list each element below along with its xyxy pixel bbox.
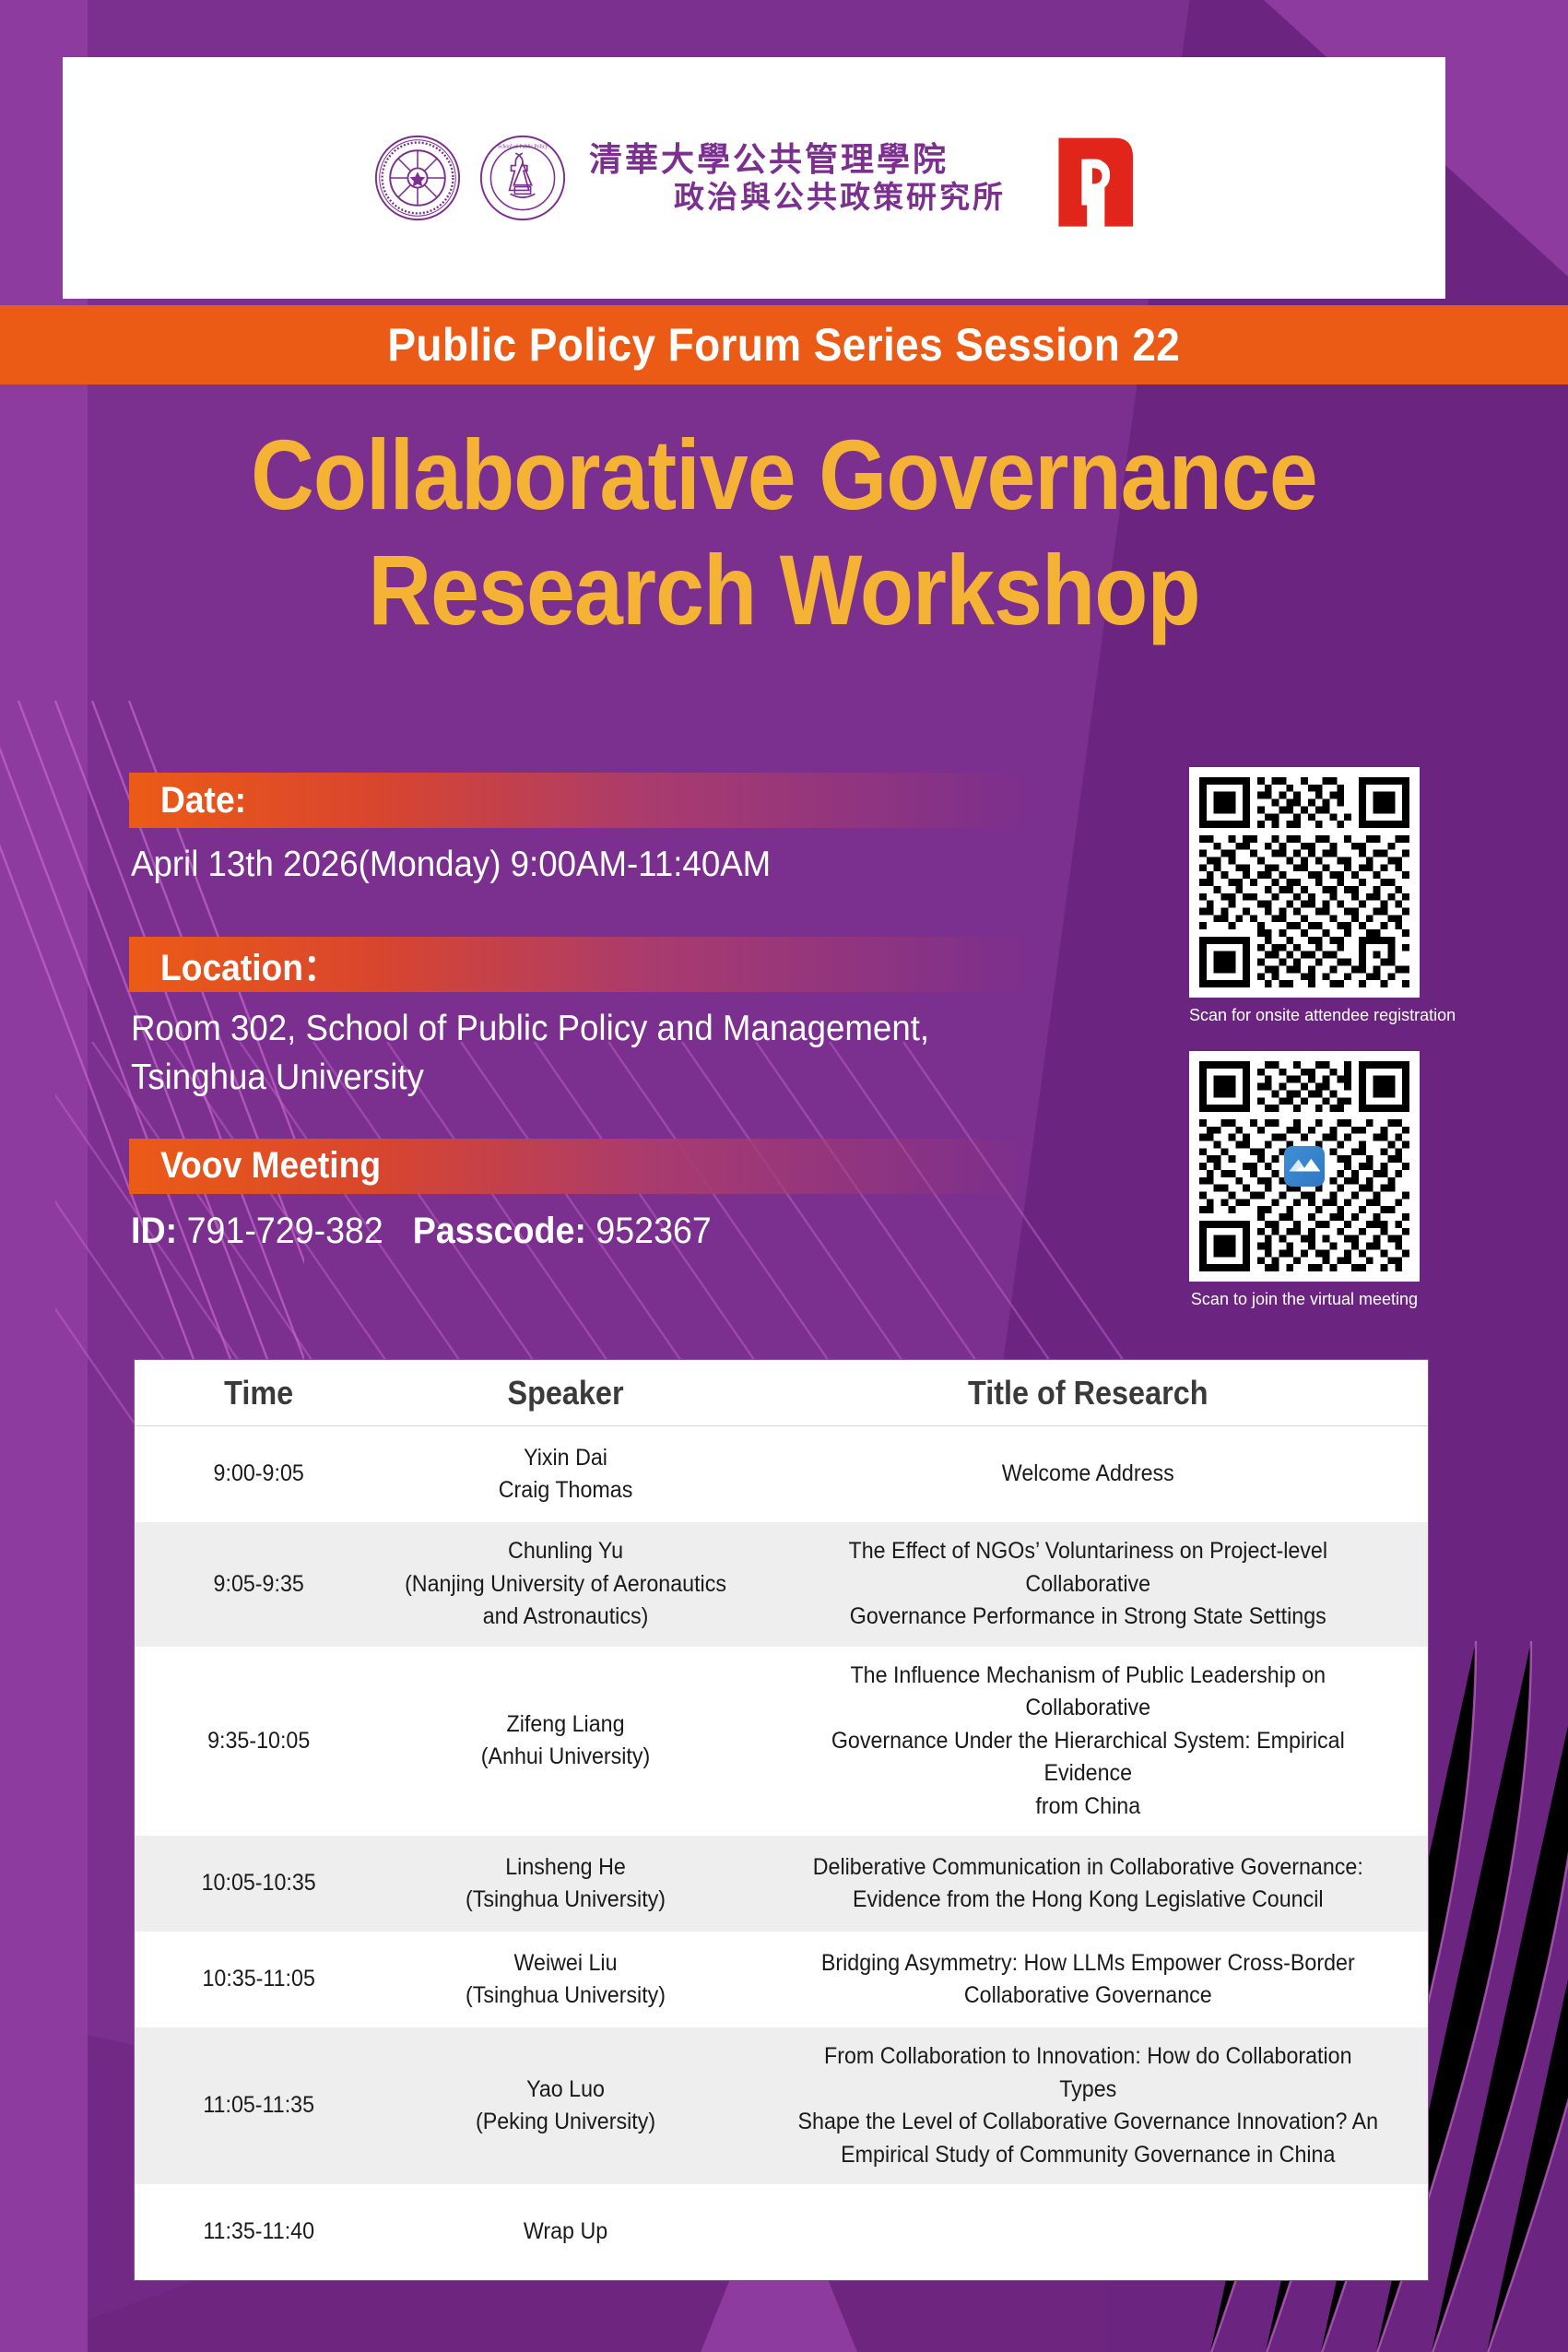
cell-speaker: Weiwei Liu (Tsinghua University) [395, 1934, 736, 2026]
table-row: 10:35-11:05 Weiwei Liu (Tsinghua Univers… [135, 1932, 1428, 2027]
meeting-passcode-value: 952367 [595, 1211, 711, 1251]
voov-meeting-label: Voov Meeting [160, 1145, 381, 1187]
school-of-public-policy-seal-icon: School of Public Policy [478, 134, 567, 222]
red-p-logo-icon [1046, 129, 1135, 227]
cell-time: 9:05-9:35 [143, 1555, 374, 1614]
meeting-passcode-label: Passcode: [413, 1211, 586, 1251]
date-label: Date: [160, 780, 246, 821]
column-header-time: Time [147, 1374, 370, 1412]
cell-title: From Collaboration to Innovation: How do… [772, 2027, 1404, 2184]
table-row: 9:05-9:35 Chunling Yu (Nanjing Universit… [135, 1522, 1428, 1647]
svg-text:School of Public Policy: School of Public Policy [498, 143, 548, 149]
meeting-id-value: 791-729-382 [187, 1211, 383, 1251]
voov-meeting-label-bar: Voov Meeting [129, 1139, 1032, 1194]
schedule-table-header: Time Speaker Title of Research [135, 1360, 1428, 1426]
cell-title: The Effect of NGOs’ Voluntariness on Pro… [772, 1522, 1404, 1647]
cell-time: 10:05-10:35 [143, 1854, 374, 1913]
cell-title: Welcome Address [772, 1445, 1404, 1504]
institution-line-2: 政治與公共政策研究所 [589, 180, 1006, 215]
table-row: 11:05-11:35 Yao Luo (Peking University) … [135, 2027, 1428, 2184]
cell-speaker: Chunling Yu (Nanjing University of Aeron… [395, 1522, 736, 1647]
location-value: Room 302, School of Public Policy and Ma… [131, 1005, 978, 1102]
column-header-speaker: Speaker [401, 1374, 730, 1412]
cell-speaker: Zifeng Liang (Anhui University) [395, 1696, 736, 1787]
cell-speaker: Wrap Up [395, 2203, 736, 2262]
qr-registration-code[interactable] [1189, 767, 1420, 998]
logo-header-card: School of Public Policy 清華大學公共管理學院 政治與公共… [63, 57, 1445, 299]
schedule-table: Time Speaker Title of Research 9:00-9:05… [134, 1359, 1429, 2281]
cell-speaker: Yixin Dai Craig Thomas [395, 1429, 736, 1520]
column-header-title: Title of Research [783, 1374, 1394, 1412]
location-label: Location： [160, 938, 337, 991]
cell-speaker: Yao Luo (Peking University) [395, 2061, 736, 2152]
meeting-id-label: ID: [131, 1211, 177, 1251]
institution-chinese-name: 清華大學公共管理學院 政治與公共政策研究所 [589, 141, 1006, 215]
cell-title: The Influence Mechanism of Public Leader… [772, 1647, 1404, 1837]
table-row: 10:05-10:35 Linsheng He (Tsinghua Univer… [135, 1836, 1428, 1932]
tsinghua-university-seal-icon [373, 134, 462, 222]
cell-title: Bridging Asymmetry: How LLMs Empower Cro… [772, 1934, 1404, 2026]
cell-time: 11:35-11:40 [143, 2203, 374, 2262]
event-poster: School of Public Policy 清華大學公共管理學院 政治與公共… [0, 0, 1568, 2352]
table-row: 9:00-9:05 Yixin Dai Craig Thomas Welcome… [135, 1426, 1428, 1522]
qr-meeting-block: Scan to join the virtual meeting [1189, 1051, 1420, 1309]
cell-time: 9:35-10:05 [143, 1712, 374, 1771]
cell-speaker: Linsheng He (Tsinghua University) [395, 1838, 736, 1930]
qr-meeting-code[interactable] [1189, 1051, 1420, 1282]
series-banner: Public Policy Forum Series Session 22 [0, 305, 1568, 384]
cell-time: 11:05-11:35 [143, 2076, 374, 2135]
footer-note: Boxed lunch for on-site attendees. [921, 2204, 1421, 2243]
page-title: Collaborative Governance Research Worksh… [0, 417, 1568, 648]
qr-meeting-caption: Scan to join the virtual meeting [1189, 1290, 1420, 1309]
event-info: Date: April 13th 2026(Monday) 9:00AM-11:… [129, 773, 1032, 1252]
cell-title: Deliberative Communication in Collaborat… [772, 1838, 1404, 1930]
voov-meeting-logo-icon [1284, 1146, 1325, 1187]
series-banner-text: Public Policy Forum Series Session 22 [388, 318, 1181, 372]
qr-registration-caption: Scan for onsite attendee registration [1189, 1006, 1420, 1025]
cell-time: 9:00-9:05 [143, 1445, 374, 1504]
institution-line-1: 清華大學公共管理學院 [589, 141, 1006, 180]
table-row: 9:35-10:05 Zifeng Liang (Anhui Universit… [135, 1647, 1428, 1837]
cell-time: 10:35-11:05 [143, 1950, 374, 2009]
qr-registration-block: Scan for onsite attendee registration [1189, 767, 1420, 1025]
date-value: April 13th 2026(Monday) 9:00AM-11:40AM [131, 841, 978, 889]
page-title-line-1: Collaborative Governance [94, 417, 1474, 532]
location-label-bar: Location： [129, 937, 1032, 992]
meeting-credentials: ID: 791-729-382Passcode: 952367 [131, 1211, 978, 1252]
page-title-line-2: Research Workshop [94, 532, 1474, 647]
date-label-bar: Date: [129, 773, 1032, 828]
